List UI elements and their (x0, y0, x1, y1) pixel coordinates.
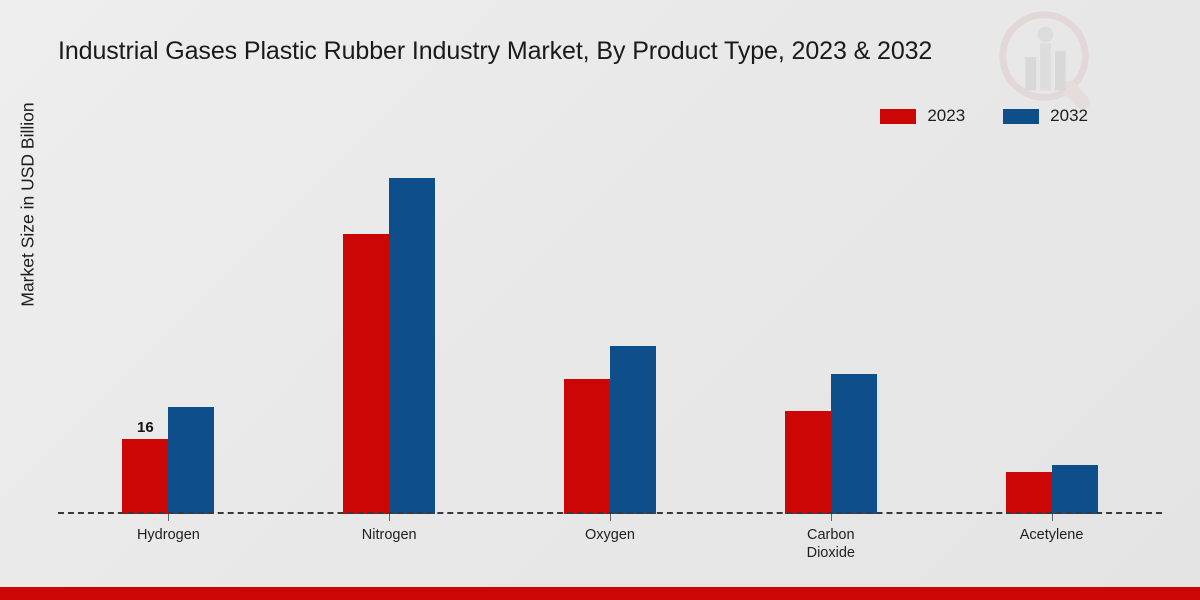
chart-legend: 2023 2032 (880, 106, 1088, 126)
legend-swatch-2023 (880, 109, 916, 124)
x-axis-tick (610, 514, 611, 521)
bar-group: Oxygen (500, 150, 721, 514)
plot-area: 16HydrogenNitrogenOxygenCarbon DioxideAc… (58, 150, 1162, 514)
chart-title: Industrial Gases Plastic Rubber Industry… (58, 34, 1058, 68)
bar-value-label: 16 (137, 419, 154, 436)
x-axis-tick (389, 514, 390, 521)
legend-swatch-2032 (1003, 109, 1039, 124)
bar-group: Carbon Dioxide (720, 150, 941, 514)
bar-2023[interactable] (564, 379, 610, 514)
bar-groups: 16HydrogenNitrogenOxygenCarbon DioxideAc… (58, 150, 1162, 514)
x-axis-category-label: Hydrogen (137, 526, 200, 544)
bottom-accent-stripe (0, 587, 1200, 600)
bar-2032[interactable] (168, 407, 214, 514)
y-axis-title: Market Size in USD Billion (18, 5, 39, 405)
x-axis-tick (168, 514, 169, 521)
bar-2032[interactable] (389, 178, 435, 514)
x-axis-category-label: Acetylene (1020, 526, 1084, 544)
legend-item-2023[interactable]: 2023 (880, 106, 965, 126)
legend-label-2023: 2023 (927, 106, 965, 126)
x-axis-category-label: Oxygen (585, 526, 635, 544)
legend-label-2032: 2032 (1050, 106, 1088, 126)
bar-group: 16Hydrogen (58, 150, 279, 514)
bar-2023[interactable] (785, 411, 831, 514)
legend-item-2032[interactable]: 2032 (1003, 106, 1088, 126)
x-axis-category-label: Nitrogen (362, 526, 417, 544)
x-axis-tick (831, 514, 832, 521)
bar-2032[interactable] (831, 374, 877, 514)
x-axis-baseline (58, 512, 1162, 514)
bar-2023[interactable] (343, 234, 389, 514)
bar-2023[interactable] (1006, 472, 1052, 514)
bar-group: Acetylene (941, 150, 1162, 514)
bar-2032[interactable] (610, 346, 656, 514)
x-axis-category-label: Carbon Dioxide (807, 526, 855, 562)
bar-group: Nitrogen (279, 150, 500, 514)
x-axis-tick (1052, 514, 1053, 521)
bar-2032[interactable] (1052, 465, 1098, 514)
bar-2023[interactable]: 16 (122, 439, 168, 514)
